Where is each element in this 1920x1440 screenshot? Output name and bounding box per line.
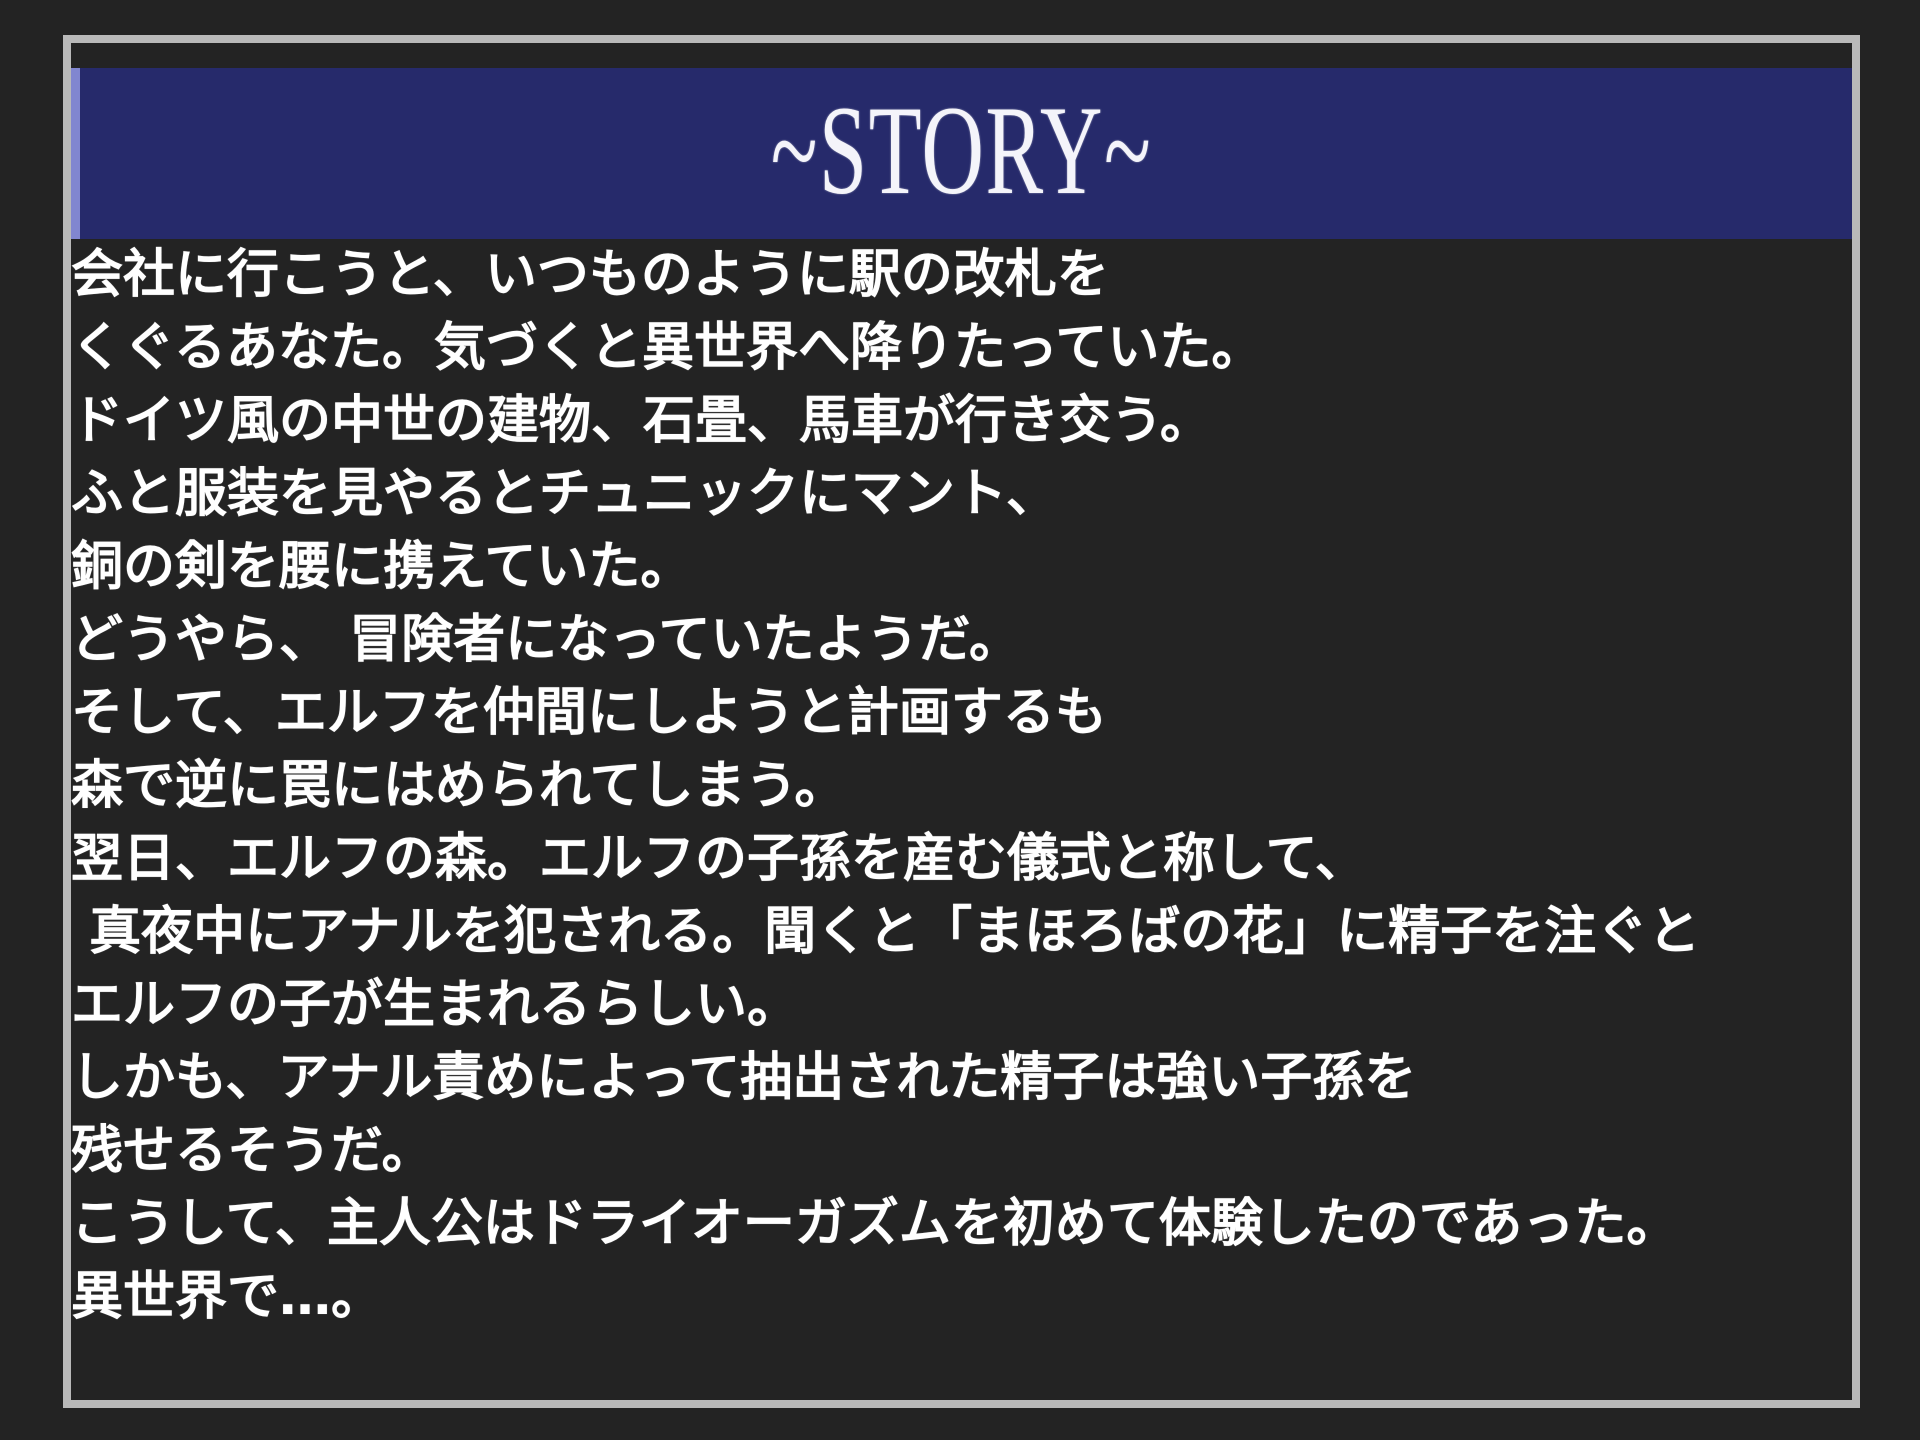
story-line: 森で逆に罠にはめられてしまう。 <box>71 750 1852 823</box>
story-line: くぐるあなた。気づくと異世界へ降りたっていた。 <box>71 312 1852 385</box>
story-line: ふと服装を見やるとチュニックにマント、 <box>71 458 1852 531</box>
story-line: 残せるそうだ。 <box>71 1115 1852 1188</box>
story-line: 翌日、エルフの森。エルフの子孫を産む儀式と称して、 <box>71 823 1852 896</box>
story-line: どうやら、 冒険者になっていたようだ。 <box>71 604 1852 677</box>
story-banner: ~STORY~ <box>71 68 1852 239</box>
story-line: そして、エルフを仲間にしようと計画するも <box>71 677 1852 750</box>
story-text-block: 会社に行こうと、いつものように駅の改札を くぐるあなた。気づくと異世界へ降りたっ… <box>71 239 1852 1334</box>
story-line: 真夜中にアナルを犯される。聞くと「まほろばの花」に精子を注ぐと <box>71 896 1852 969</box>
story-line: こうして、主人公はドライオーガズムを初めて体験したのであった。 <box>71 1188 1852 1261</box>
story-line: 銅の剣を腰に携えていた。 <box>71 531 1852 604</box>
content-frame: ~STORY~ 会社に行こうと、いつものように駅の改札を くぐるあなた。気づくと… <box>63 35 1860 1408</box>
banner-top-spacer <box>71 43 1852 68</box>
banner-title-text: ~STORY~ <box>771 88 1153 215</box>
frame-inner: ~STORY~ 会社に行こうと、いつものように駅の改札を くぐるあなた。気づくと… <box>71 43 1852 1400</box>
story-line: 異世界で…。 <box>71 1261 1852 1334</box>
story-line: ドイツ風の中世の建物、石畳、馬車が行き交う。 <box>71 385 1852 458</box>
banner-title: ~STORY~ <box>71 97 1852 205</box>
page-canvas: ~STORY~ 会社に行こうと、いつものように駅の改札を くぐるあなた。気づくと… <box>0 0 1920 1440</box>
story-line: 会社に行こうと、いつものように駅の改札を <box>71 239 1852 312</box>
story-line: エルフの子が生まれるらしい。 <box>71 969 1852 1042</box>
story-line: しかも、アナル責めによって抽出された精子は強い子孫を <box>71 1042 1852 1115</box>
